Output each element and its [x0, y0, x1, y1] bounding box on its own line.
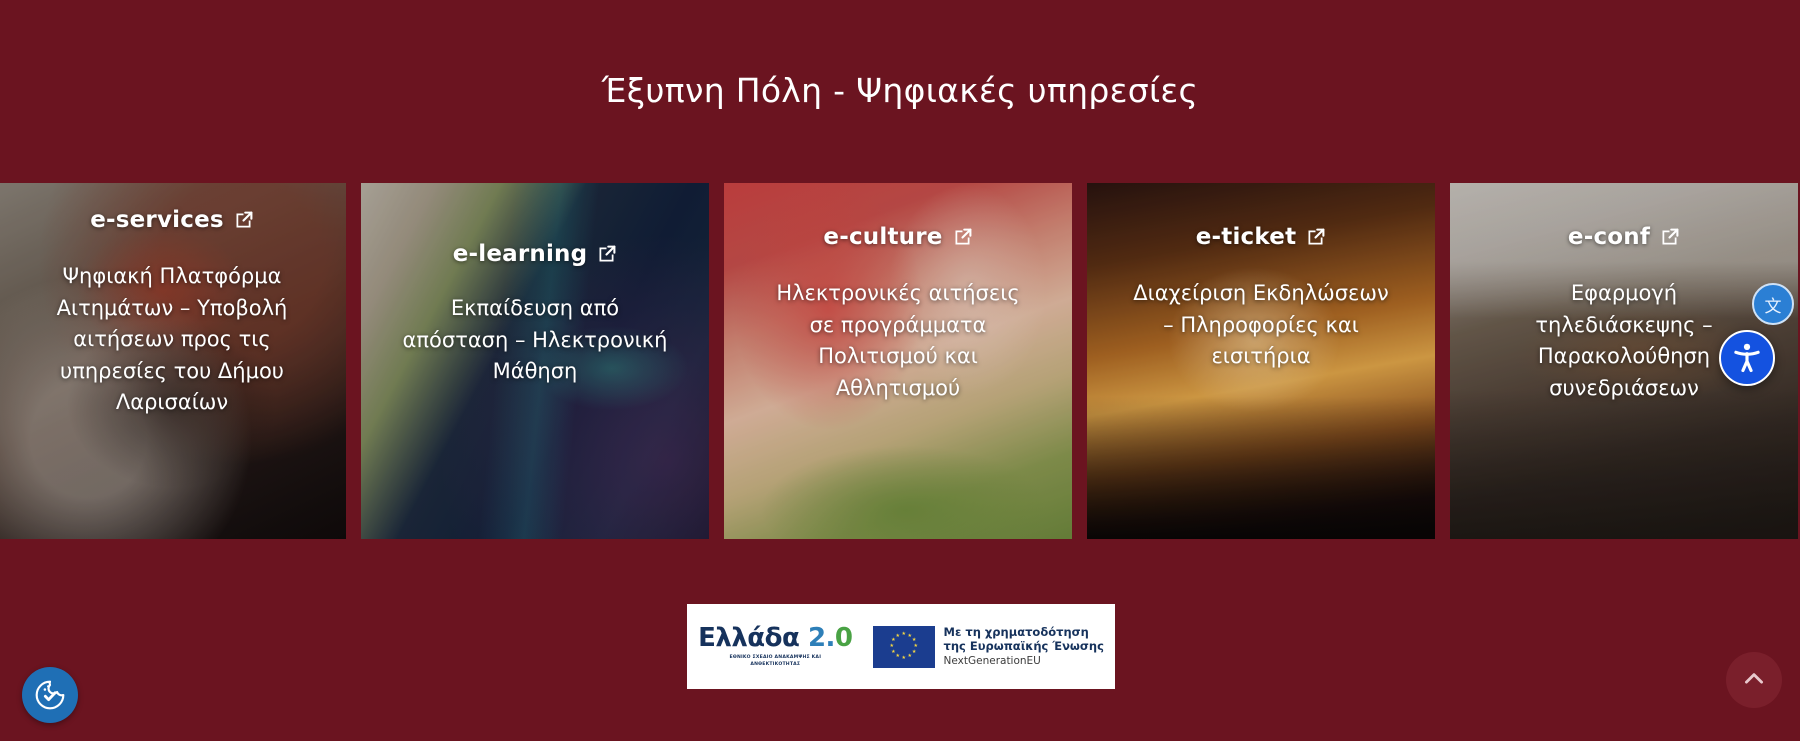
greece-logo-name: Ελλάδα [698, 623, 799, 653]
eu-star-icon: ★ [896, 654, 900, 658]
external-link-icon [1659, 227, 1680, 248]
card-description: Εφαρμογή τηλεδιάσκεψης – Παρακολούθηση σ… [1489, 278, 1759, 404]
service-card-e-services[interactable]: e-services Ψηφιακή Πλατφόρμα Αιτημάτων –… [0, 183, 346, 539]
eu-star-icon: ★ [912, 638, 916, 642]
card-title-text: e-ticket [1196, 224, 1297, 250]
card-title-text: e-conf [1568, 224, 1650, 250]
funding-banner[interactable]: Ελλάδα 2.0 ΕΘΝΙΚΟ ΣΧΕΔΙΟ ΑΝΑΚΑΜΨΗΣ ΚΑΙ Α… [687, 604, 1115, 689]
eu-star-icon: ★ [890, 644, 894, 648]
card-title-text: e-culture [823, 224, 942, 250]
card-title-row: e-ticket [1196, 224, 1327, 250]
eu-star-icon: ★ [908, 654, 912, 658]
eu-star-icon: ★ [902, 632, 906, 636]
greece-logo-version-dot: . [826, 623, 835, 653]
card-title-row: e-services [90, 207, 254, 233]
service-card-e-culture[interactable]: e-culture Ηλεκτρονικές αιτήσεις σε προγρ… [724, 183, 1072, 539]
eu-star-icon: ★ [896, 634, 900, 638]
cookie-consent-icon [33, 678, 67, 712]
scroll-to-top-button[interactable] [1726, 652, 1782, 708]
external-link-icon [233, 210, 254, 231]
eu-star-icon: ★ [908, 634, 912, 638]
eu-star-icon: ★ [902, 656, 906, 660]
card-title-row: e-learning [453, 241, 618, 267]
accessibility-button[interactable] [1719, 330, 1775, 386]
external-link-icon [596, 244, 617, 265]
eu-funding-text: Με τη χρηματοδότηση της Ευρωπαϊκής Ένωση… [944, 625, 1104, 669]
eu-funding-line-3: NextGenerationEU [944, 655, 1104, 668]
eu-star-icon: ★ [914, 644, 918, 648]
external-link-icon [1305, 227, 1326, 248]
page-title: Έξυπνη Πόλη - Ψηφιακές υπηρεσίες [0, 70, 1800, 113]
eu-star-icon: ★ [912, 650, 916, 654]
greece-logo-wordmark: Ελλάδα 2.0 [698, 625, 852, 651]
eu-flag-icon: ★★★★★★★★★★★★ [873, 626, 935, 668]
card-description: Εκπαίδευση από απόσταση – Ηλεκτρονική Μά… [400, 293, 670, 388]
card-description: Ψηφιακή Πλατφόρμα Αιτημάτων – Υποβολή αι… [37, 261, 307, 419]
translate-icon: 文 [1765, 292, 1782, 317]
card-content: e-learning Εκπαίδευση από απόσταση – Ηλε… [361, 183, 709, 539]
service-card-e-learning[interactable]: e-learning Εκπαίδευση από απόσταση – Ηλε… [361, 183, 709, 539]
greece-logo-version-two: 2 [808, 623, 826, 653]
service-card-strip: e-services Ψηφιακή Πλατφόρμα Αιτημάτων –… [0, 183, 1800, 539]
eu-funding-line-1: Με τη χρηματοδότηση [944, 625, 1104, 639]
card-description: Διαχείριση Εκδηλώσεων – Πληροφορίες και … [1126, 278, 1396, 373]
service-card-e-ticket[interactable]: e-ticket Διαχείριση Εκδηλώσεων – Πληροφο… [1087, 183, 1435, 539]
card-title-text: e-services [90, 207, 224, 233]
card-content: e-culture Ηλεκτρονικές αιτήσεις σε προγρ… [724, 183, 1072, 539]
card-title-row: e-culture [823, 224, 972, 250]
greece-logo-subtitle: ΕΘΝΙΚΟ ΣΧΕΔΙΟ ΑΝΑΚΑΜΨΗΣ ΚΑΙ ΑΝΘΕΚΤΙΚΟΤΗΤ… [715, 655, 835, 667]
translate-button[interactable]: 文 [1752, 283, 1794, 325]
eu-star-icon: ★ [891, 650, 895, 654]
eu-funding-block: ★★★★★★★★★★★★ Με τη χρηματοδότηση της Ευρ… [873, 625, 1104, 669]
card-title-text: e-learning [453, 241, 588, 267]
card-title-row: e-conf [1568, 224, 1680, 250]
accessibility-icon [1729, 340, 1765, 376]
card-description: Ηλεκτρονικές αιτήσεις σε προγράμματα Πολ… [763, 278, 1033, 404]
arrow-up-icon [1741, 667, 1767, 693]
cookie-consent-button[interactable] [22, 667, 78, 723]
greece-2-0-logo: Ελλάδα 2.0 ΕΘΝΙΚΟ ΣΧΕΔΙΟ ΑΝΑΚΑΜΨΗΣ ΚΑΙ Α… [698, 625, 852, 667]
greece-logo-version-zero: 0 [835, 623, 853, 653]
eu-funding-line-2: της Ευρωπαϊκής Ένωσης [944, 639, 1104, 653]
eu-star-icon: ★ [891, 638, 895, 642]
card-content: e-services Ψηφιακή Πλατφόρμα Αιτημάτων –… [0, 183, 346, 539]
card-content: e-ticket Διαχείριση Εκδηλώσεων – Πληροφο… [1087, 183, 1435, 539]
external-link-icon [952, 227, 973, 248]
page-root: Έξυπνη Πόλη - Ψηφιακές υπηρεσίες e-servi… [0, 0, 1800, 741]
